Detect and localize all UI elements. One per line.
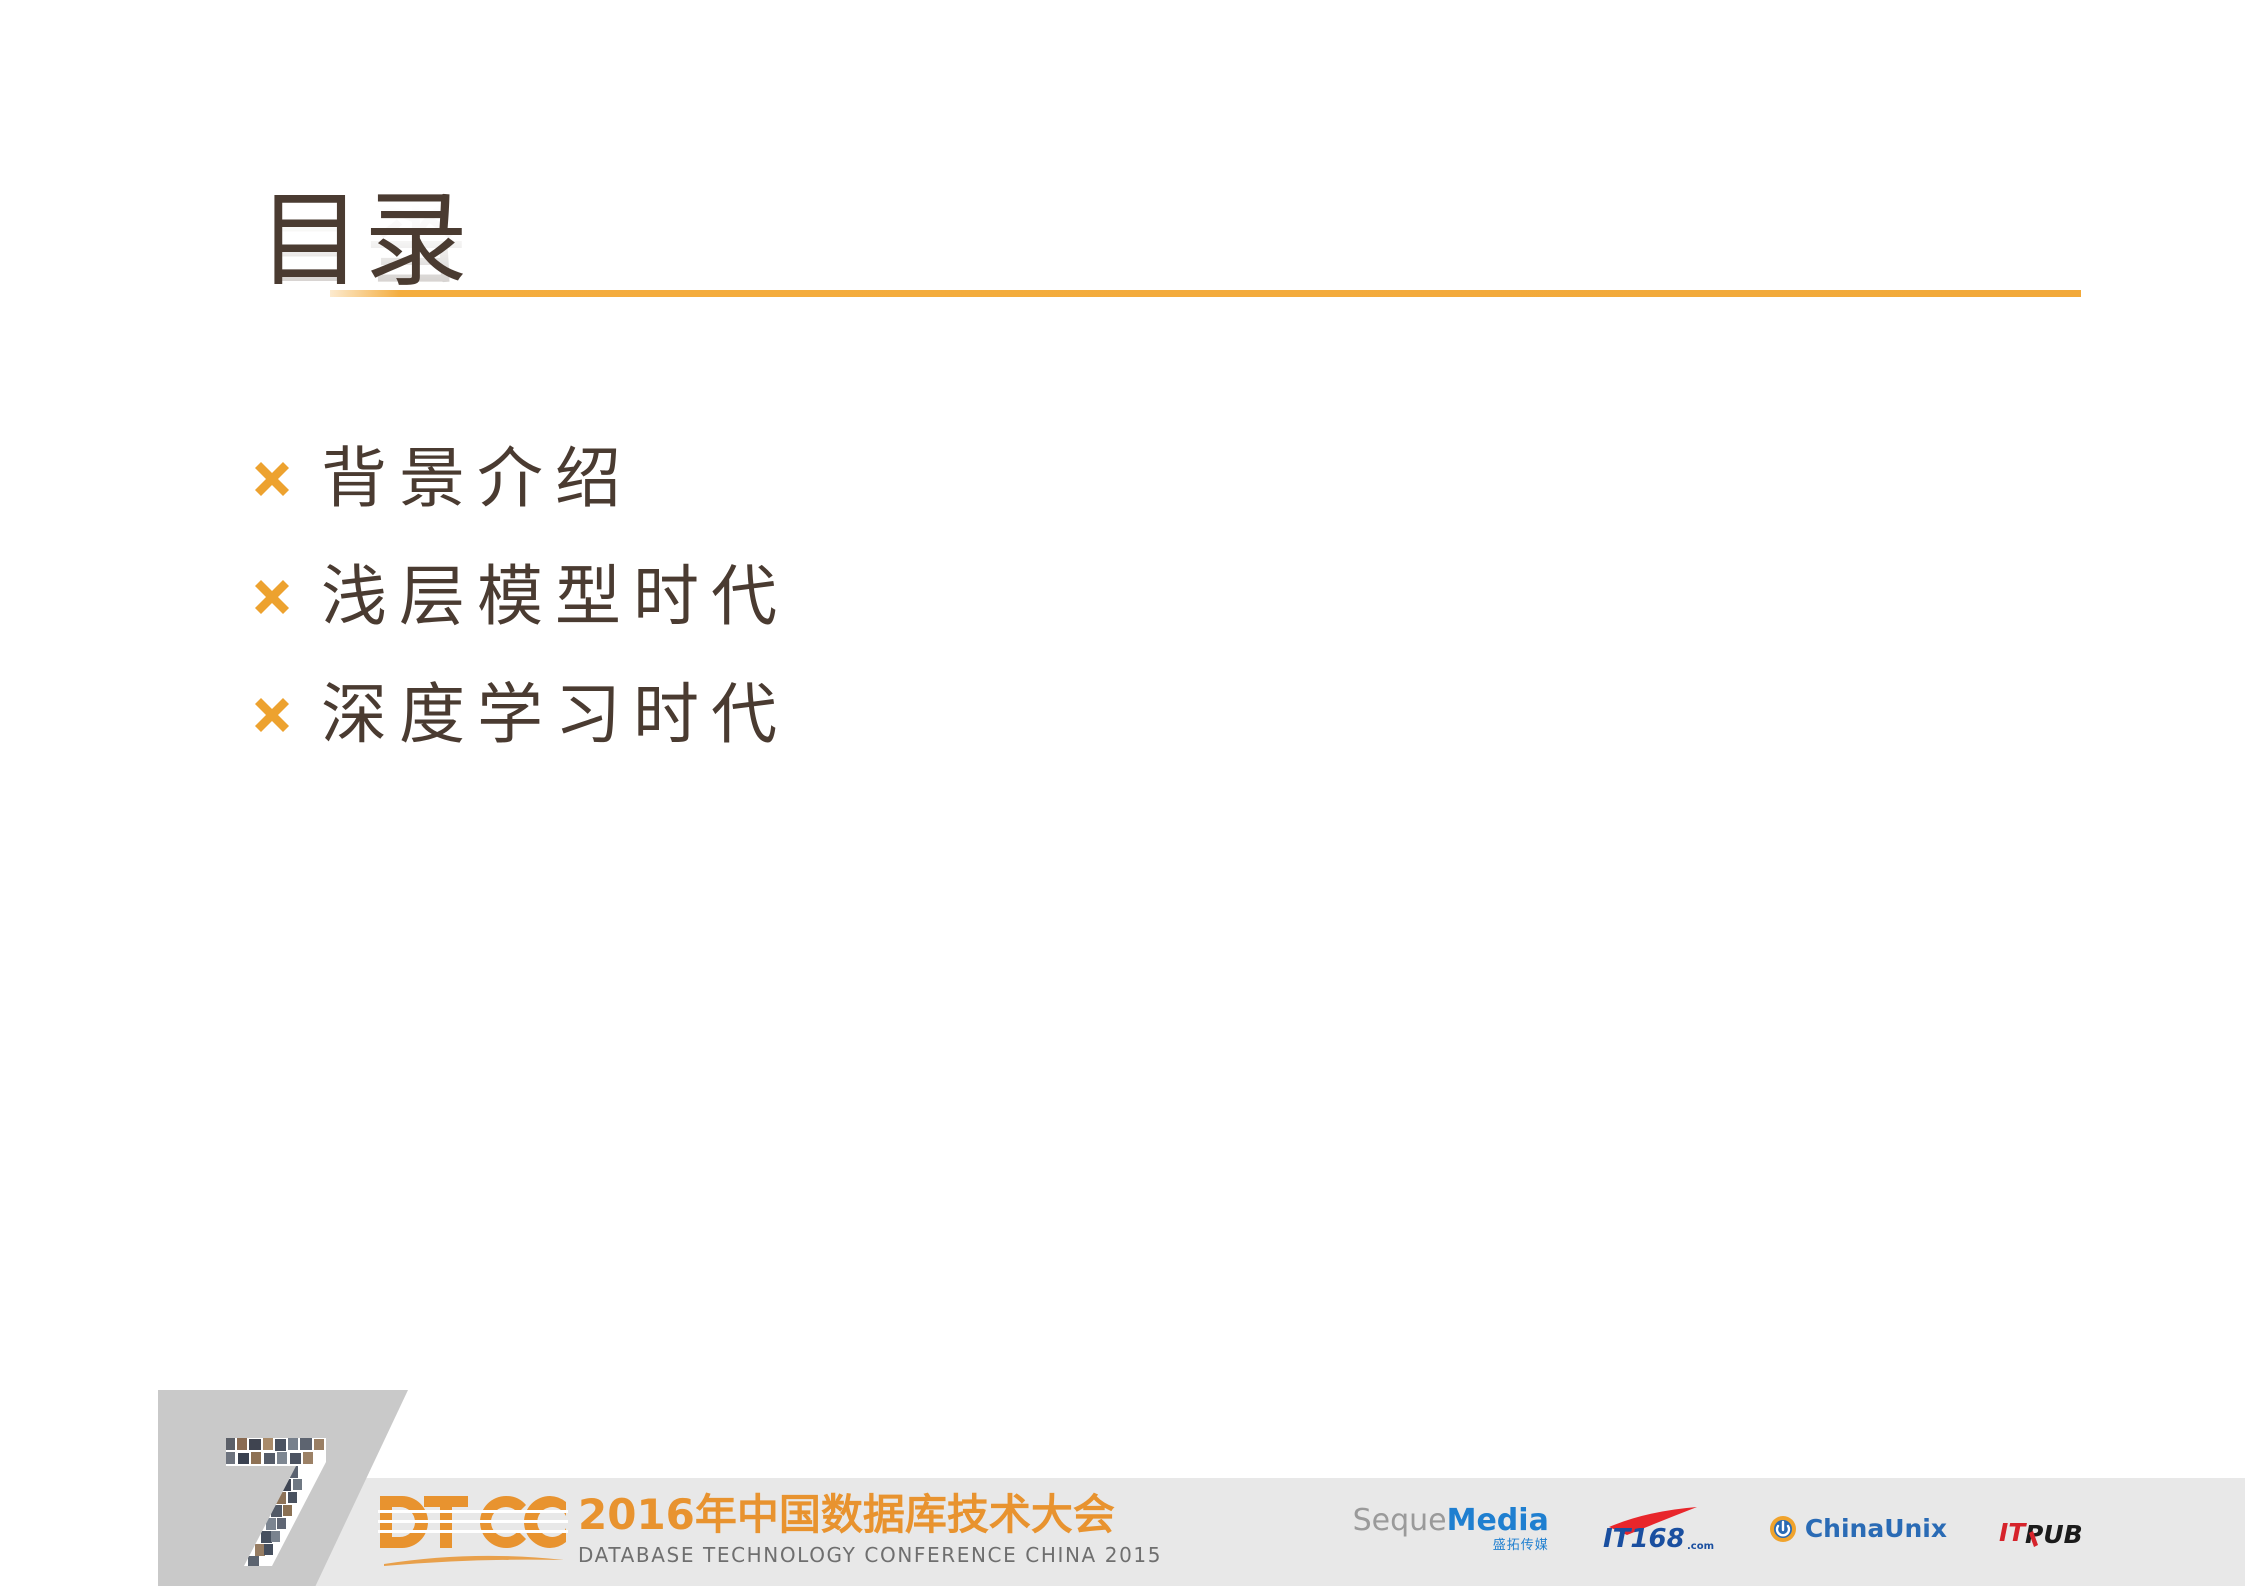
list-item[interactable]: 浅层模型时代 [245,538,1645,656]
contents-list: 背景介绍 浅层模型时代 深度学习时代 [245,420,1645,774]
x-mark-icon [245,452,299,506]
list-item[interactable]: 背景介绍 [245,420,1645,538]
svg-text:IT: IT [1999,1518,2027,1547]
list-item[interactable]: 深度学习时代 [245,656,1645,774]
x-mark-icon [245,688,299,742]
it168-logo: IT168 .com [1601,1502,1717,1556]
slide-canvas: 目录 目录 背景介绍 浅层模型时代 [0,0,2245,1586]
sequemedia-subtitle: 盛拓传媒 [1493,1538,1549,1553]
dtcc-logo [378,1490,568,1574]
chinaunix-icon [1769,1515,1797,1543]
conference-title-cn: 2016年中国数据库技术大会 [578,1490,1162,1540]
x-mark-icon [245,570,299,624]
chinaunix-name: ChinaUnix [1805,1515,1947,1543]
sequemedia-name-b: Media [1447,1503,1549,1538]
list-item-label: 深度学习时代 [321,679,789,751]
conference-title: 2016年中国数据库技术大会 DATABASE TECHNOLOGY CONFE… [578,1490,1162,1568]
sequemedia-logo: SequeMedia 盛拓传媒 [1353,1502,1549,1556]
svg-text:.com: .com [1687,1541,1714,1552]
chinaunix-logo: ChinaUnix [1769,1502,1947,1556]
edition-seven-mosaic-icon [214,1432,344,1572]
list-item-label: 浅层模型时代 [321,561,789,633]
conference-title-en: DATABASE TECHNOLOGY CONFERENCE CHINA 201… [578,1542,1162,1568]
sponsor-logos: SequeMedia 盛拓传媒 IT168 .com [1353,1502,2085,1556]
svg-text:IT168: IT168 [1603,1524,1685,1553]
title-underline-rule [330,290,2081,297]
sequemedia-name-a: Seque [1353,1503,1447,1538]
list-item-label: 背景介绍 [321,443,633,515]
page-title: 目录 [258,186,470,294]
slide-footer: 2016年中国数据库技术大会 DATABASE TECHNOLOGY CONFE… [0,1390,2245,1586]
itpub-logo: IT PUB [1999,1502,2085,1556]
slide-title-block: 目录 目录 [258,186,2088,346]
